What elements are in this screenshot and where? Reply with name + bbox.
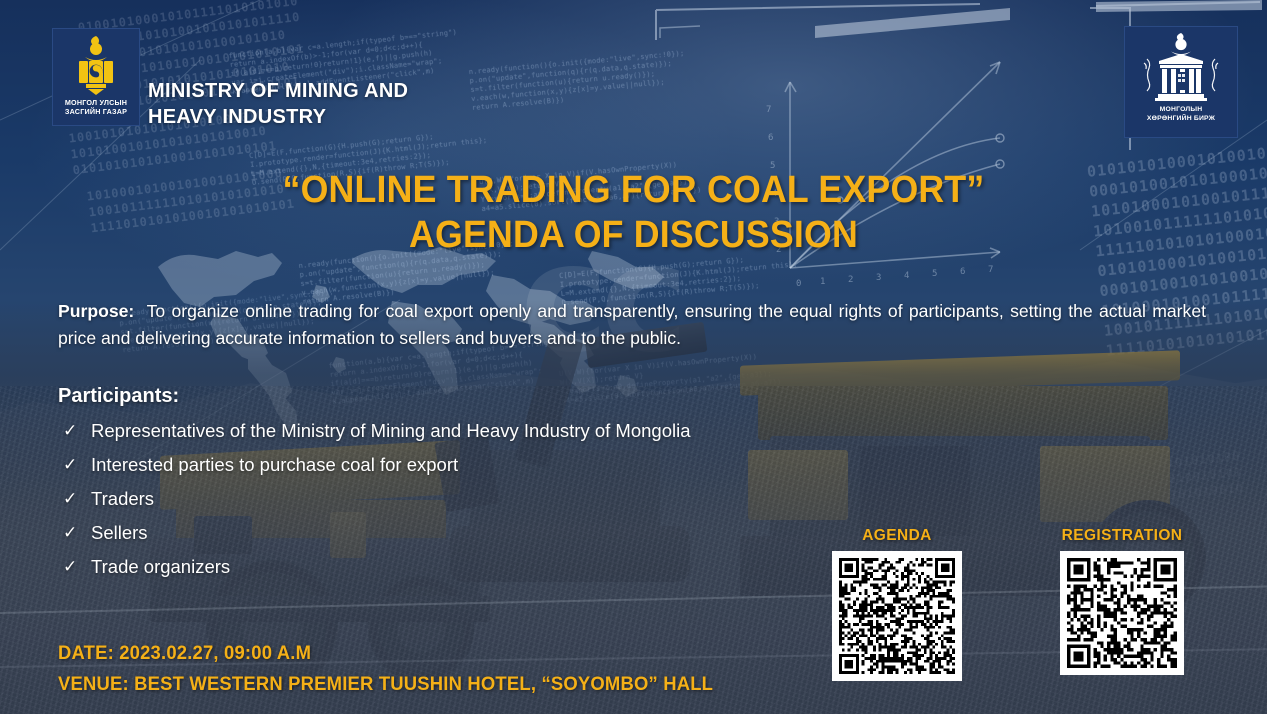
event-details: DATE: 2023.02.27, 09:00 A.M VENUE: BEST … (58, 638, 733, 700)
participants-heading: Participants: (58, 385, 179, 408)
title-line-2: AGENDA OF DISCUSSION (38, 213, 1229, 258)
poster-title: “ONLINE TRADING FOR COAL EXPORT” AGENDA … (38, 168, 1229, 258)
stock-exchange-building-icon (1133, 31, 1229, 105)
checkmark-icon: ✓ (63, 554, 77, 579)
right-logo-caption-line1: МОНГОЛЫН (1160, 106, 1203, 114)
event-date: DATE: 2023.02.27, 09:00 A.M (58, 638, 713, 669)
poster-canvas: function(a,b){var c=a.length;if(typeof b… (0, 0, 1267, 714)
purpose-paragraph: Purpose: To organize online trading for … (58, 298, 1206, 352)
participant-item: ✓Sellers (58, 520, 718, 545)
ministry-name-line2: HEAVY INDUSTRY (148, 104, 408, 130)
registration-qr-label: REGISTRATION (1060, 527, 1184, 545)
government-of-mongolia-logo: МОНГОЛ УЛСЫН ЗАСГИЙН ГАЗАР (52, 28, 140, 126)
agenda-qr-code[interactable] (832, 551, 962, 681)
purpose-label: Purpose: (58, 301, 134, 321)
agenda-qr-label: AGENDA (832, 527, 962, 545)
left-logo-caption-line1: МОНГОЛ УЛСЫН (65, 98, 127, 107)
right-logo-caption-line2: ХӨРӨНГИЙН БИРЖ (1147, 115, 1215, 123)
checkmark-icon: ✓ (63, 486, 77, 511)
participants-list: ✓Representatives of the Ministry of Mini… (58, 418, 718, 588)
participant-label: Sellers (91, 522, 148, 543)
ministry-name-line1: MINISTRY OF MINING AND (148, 78, 408, 104)
participant-item: ✓Trade organizers (58, 554, 718, 579)
participant-label: Trade organizers (91, 556, 230, 577)
title-line-1: “ONLINE TRADING FOR COAL EXPORT” (38, 168, 1229, 213)
checkmark-icon: ✓ (63, 418, 77, 443)
participant-item: ✓Traders (58, 486, 718, 511)
ministry-name: MINISTRY OF MINING AND HEAVY INDUSTRY (148, 78, 408, 130)
participant-item: ✓Interested parties to purchase coal for… (58, 452, 718, 477)
registration-qr-code[interactable] (1060, 551, 1184, 675)
checkmark-icon: ✓ (63, 452, 77, 477)
participant-item: ✓Representatives of the Ministry of Mini… (58, 418, 718, 443)
soyombo-emblem-icon (73, 34, 119, 96)
left-logo-caption-line2: ЗАСГИЙН ГАЗАР (65, 107, 127, 116)
mongolian-stock-exchange-logo: МОНГОЛЫН ХӨРӨНГИЙН БИРЖ (1124, 26, 1238, 138)
purpose-text: To organize online trading for coal expo… (58, 301, 1206, 348)
event-venue: VENUE: BEST WESTERN PREMIER TUUSHIN HOTE… (58, 669, 713, 700)
agenda-qr-block[interactable]: AGENDA (832, 527, 962, 681)
registration-qr-block[interactable]: REGISTRATION (1060, 527, 1184, 675)
participant-label: Interested parties to purchase coal for … (91, 454, 458, 475)
participant-label: Traders (91, 488, 154, 509)
participant-label: Representatives of the Ministry of Minin… (91, 420, 691, 441)
checkmark-icon: ✓ (63, 520, 77, 545)
